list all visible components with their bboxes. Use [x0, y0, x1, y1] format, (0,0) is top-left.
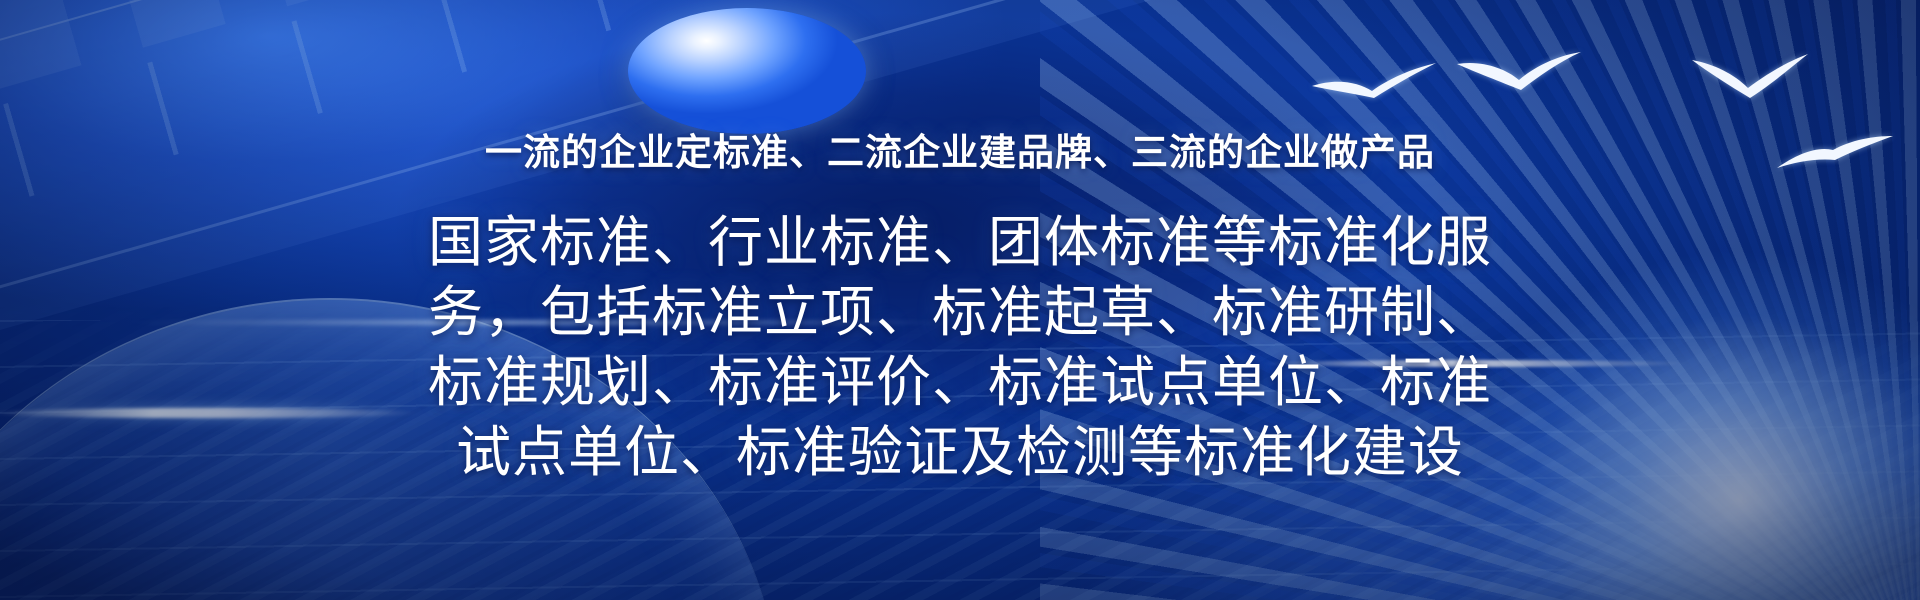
banner-headline: 一流的企业定标准、二流企业建品牌、三流的企业做产品 [485, 134, 1435, 171]
banner-body-line: 国家标准、行业标准、团体标准等标准化服 [428, 207, 1492, 277]
banner-body-line: 务，包括标准立项、标准起草、标准研制、 [428, 277, 1492, 347]
promo-banner: 一流的企业定标准、二流企业建品牌、三流的企业做产品 国家标准、行业标准、团体标准… [0, 0, 1920, 600]
banner-body-line: 标准规划、标准评价、标准试点单位、标准 [428, 347, 1492, 417]
banner-body: 国家标准、行业标准、团体标准等标准化服 务，包括标准立项、标准起草、标准研制、 … [428, 207, 1492, 487]
banner-content: 一流的企业定标准、二流企业建品牌、三流的企业做产品 国家标准、行业标准、团体标准… [0, 0, 1920, 600]
banner-body-line: 试点单位、标准验证及检测等标准化建设 [456, 417, 1464, 487]
